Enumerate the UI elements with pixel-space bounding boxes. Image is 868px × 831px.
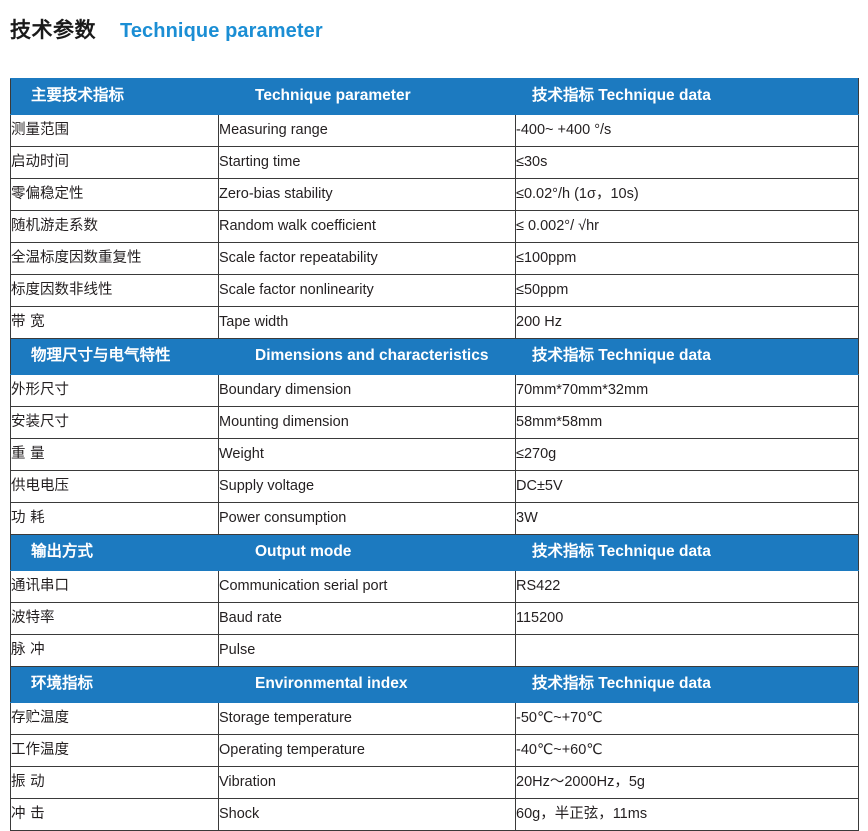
param-name-en: Storage temperature (219, 703, 516, 735)
section-header-en: Dimensions and characteristics (219, 339, 516, 375)
param-name-en: Vibration (219, 767, 516, 799)
param-name-en: Weight (219, 439, 516, 471)
param-name-cn: 标度因数非线性 (11, 275, 219, 307)
param-value: 58mm*58mm (516, 407, 859, 439)
param-name-cn: 功耗 (11, 503, 219, 535)
section-header-data: 技术指标 Technique data (516, 79, 859, 115)
param-value: DC±5V (516, 471, 859, 503)
table-row: 重量Weight≤270g (11, 439, 859, 471)
param-name-cn: 带宽 (11, 307, 219, 339)
page-title: 技术参数 Technique parameter (10, 14, 323, 44)
section-header-en: Environmental index (219, 667, 516, 703)
param-name-cn: 重量 (11, 439, 219, 471)
param-name-cn: 通讯串口 (11, 571, 219, 603)
section-header-cn: 环境指标 (11, 667, 219, 703)
table-row: 功耗Power consumption3W (11, 503, 859, 535)
section-header-en: Output mode (219, 535, 516, 571)
param-name-cn: 零偏稳定性 (11, 179, 219, 211)
param-value: -400~ +400 °/s (516, 115, 859, 147)
param-value (516, 635, 859, 667)
table-row: 供电电压Supply voltageDC±5V (11, 471, 859, 503)
section-header-en: Technique parameter (219, 79, 516, 115)
param-name-cn: 供电电压 (11, 471, 219, 503)
param-name-en: Tape width (219, 307, 516, 339)
param-name-en: Pulse (219, 635, 516, 667)
param-name-cn: 存贮温度 (11, 703, 219, 735)
param-name-en: Shock (219, 799, 516, 831)
section-header-row: 主要技术指标Technique parameter技术指标 Technique … (11, 79, 859, 115)
param-name-en: Baud rate (219, 603, 516, 635)
specification-table: 主要技术指标Technique parameter技术指标 Technique … (10, 78, 859, 831)
param-name-cn: 随机游走系数 (11, 211, 219, 243)
param-value: 60g，半正弦，11ms (516, 799, 859, 831)
table-row: 零偏稳定性Zero-bias stability≤0.02°/h (1σ，10s… (11, 179, 859, 211)
section-header-data: 技术指标 Technique data (516, 339, 859, 375)
section-header-row: 物理尺寸与电气特性Dimensions and characteristics技… (11, 339, 859, 375)
param-name-en: Starting time (219, 147, 516, 179)
table-row: 脉冲Pulse (11, 635, 859, 667)
section-header-row: 环境指标Environmental index技术指标 Technique da… (11, 667, 859, 703)
param-name-en: Communication serial port (219, 571, 516, 603)
param-value: 70mm*70mm*32mm (516, 375, 859, 407)
table-row: 随机游走系数Random walk coefficient≤ 0.002°/ √… (11, 211, 859, 243)
param-value: ≤0.02°/h (1σ，10s) (516, 179, 859, 211)
param-value: ≤30s (516, 147, 859, 179)
param-name-en: Scale factor nonlinearity (219, 275, 516, 307)
param-value: ≤ 0.002°/ √hr (516, 211, 859, 243)
table-row: 外形尺寸Boundary dimension70mm*70mm*32mm (11, 375, 859, 407)
param-value: -50℃~+70℃ (516, 703, 859, 735)
param-value: 3W (516, 503, 859, 535)
param-value: -40℃~+60℃ (516, 735, 859, 767)
param-name-en: Power consumption (219, 503, 516, 535)
param-name-en: Measuring range (219, 115, 516, 147)
param-name-cn: 安装尺寸 (11, 407, 219, 439)
section-header-cn: 输出方式 (11, 535, 219, 571)
param-value: ≤50ppm (516, 275, 859, 307)
param-name-cn: 全温标度因数重复性 (11, 243, 219, 275)
param-value: 20Hz～2000Hz，5g (516, 767, 859, 799)
param-value: ≤270g (516, 439, 859, 471)
param-name-cn: 振动 (11, 767, 219, 799)
param-name-en: Boundary dimension (219, 375, 516, 407)
param-name-cn: 波特率 (11, 603, 219, 635)
param-name-cn: 脉冲 (11, 635, 219, 667)
param-name-cn: 启动时间 (11, 147, 219, 179)
section-header-cn: 物理尺寸与电气特性 (11, 339, 219, 375)
param-value: 200 Hz (516, 307, 859, 339)
param-value: 115200 (516, 603, 859, 635)
table-row: 存贮温度Storage temperature-50℃~+70℃ (11, 703, 859, 735)
param-name-cn: 外形尺寸 (11, 375, 219, 407)
table-body: 主要技术指标Technique parameter技术指标 Technique … (11, 79, 859, 831)
page-title-cn: 技术参数 (10, 14, 96, 44)
table-row: 安装尺寸Mounting dimension58mm*58mm (11, 407, 859, 439)
param-name-en: Supply voltage (219, 471, 516, 503)
table-row: 振动Vibration20Hz～2000Hz，5g (11, 767, 859, 799)
table-row: 工作温度Operating temperature-40℃~+60℃ (11, 735, 859, 767)
page-title-en: Technique parameter (120, 20, 323, 43)
param-name-en: Mounting dimension (219, 407, 516, 439)
param-name-cn: 测量范围 (11, 115, 219, 147)
table-row: 标度因数非线性Scale factor nonlinearity≤50ppm (11, 275, 859, 307)
table-row: 通讯串口Communication serial portRS422 (11, 571, 859, 603)
section-header-data: 技术指标 Technique data (516, 535, 859, 571)
param-name-en: Zero-bias stability (219, 179, 516, 211)
param-value: RS422 (516, 571, 859, 603)
table-row: 测量范围Measuring range-400~ +400 °/s (11, 115, 859, 147)
section-header-cn: 主要技术指标 (11, 79, 219, 115)
param-name-cn: 冲击 (11, 799, 219, 831)
param-value: ≤100ppm (516, 243, 859, 275)
table-row: 带宽Tape width200 Hz (11, 307, 859, 339)
table-row: 冲击Shock60g，半正弦，11ms (11, 799, 859, 831)
table-row: 波特率Baud rate115200 (11, 603, 859, 635)
section-header-row: 输出方式Output mode技术指标 Technique data (11, 535, 859, 571)
section-header-data: 技术指标 Technique data (516, 667, 859, 703)
param-name-en: Scale factor repeatability (219, 243, 516, 275)
table-row: 全温标度因数重复性Scale factor repeatability≤100p… (11, 243, 859, 275)
param-name-cn: 工作温度 (11, 735, 219, 767)
table-row: 启动时间Starting time≤30s (11, 147, 859, 179)
param-name-en: Operating temperature (219, 735, 516, 767)
param-name-en: Random walk coefficient (219, 211, 516, 243)
